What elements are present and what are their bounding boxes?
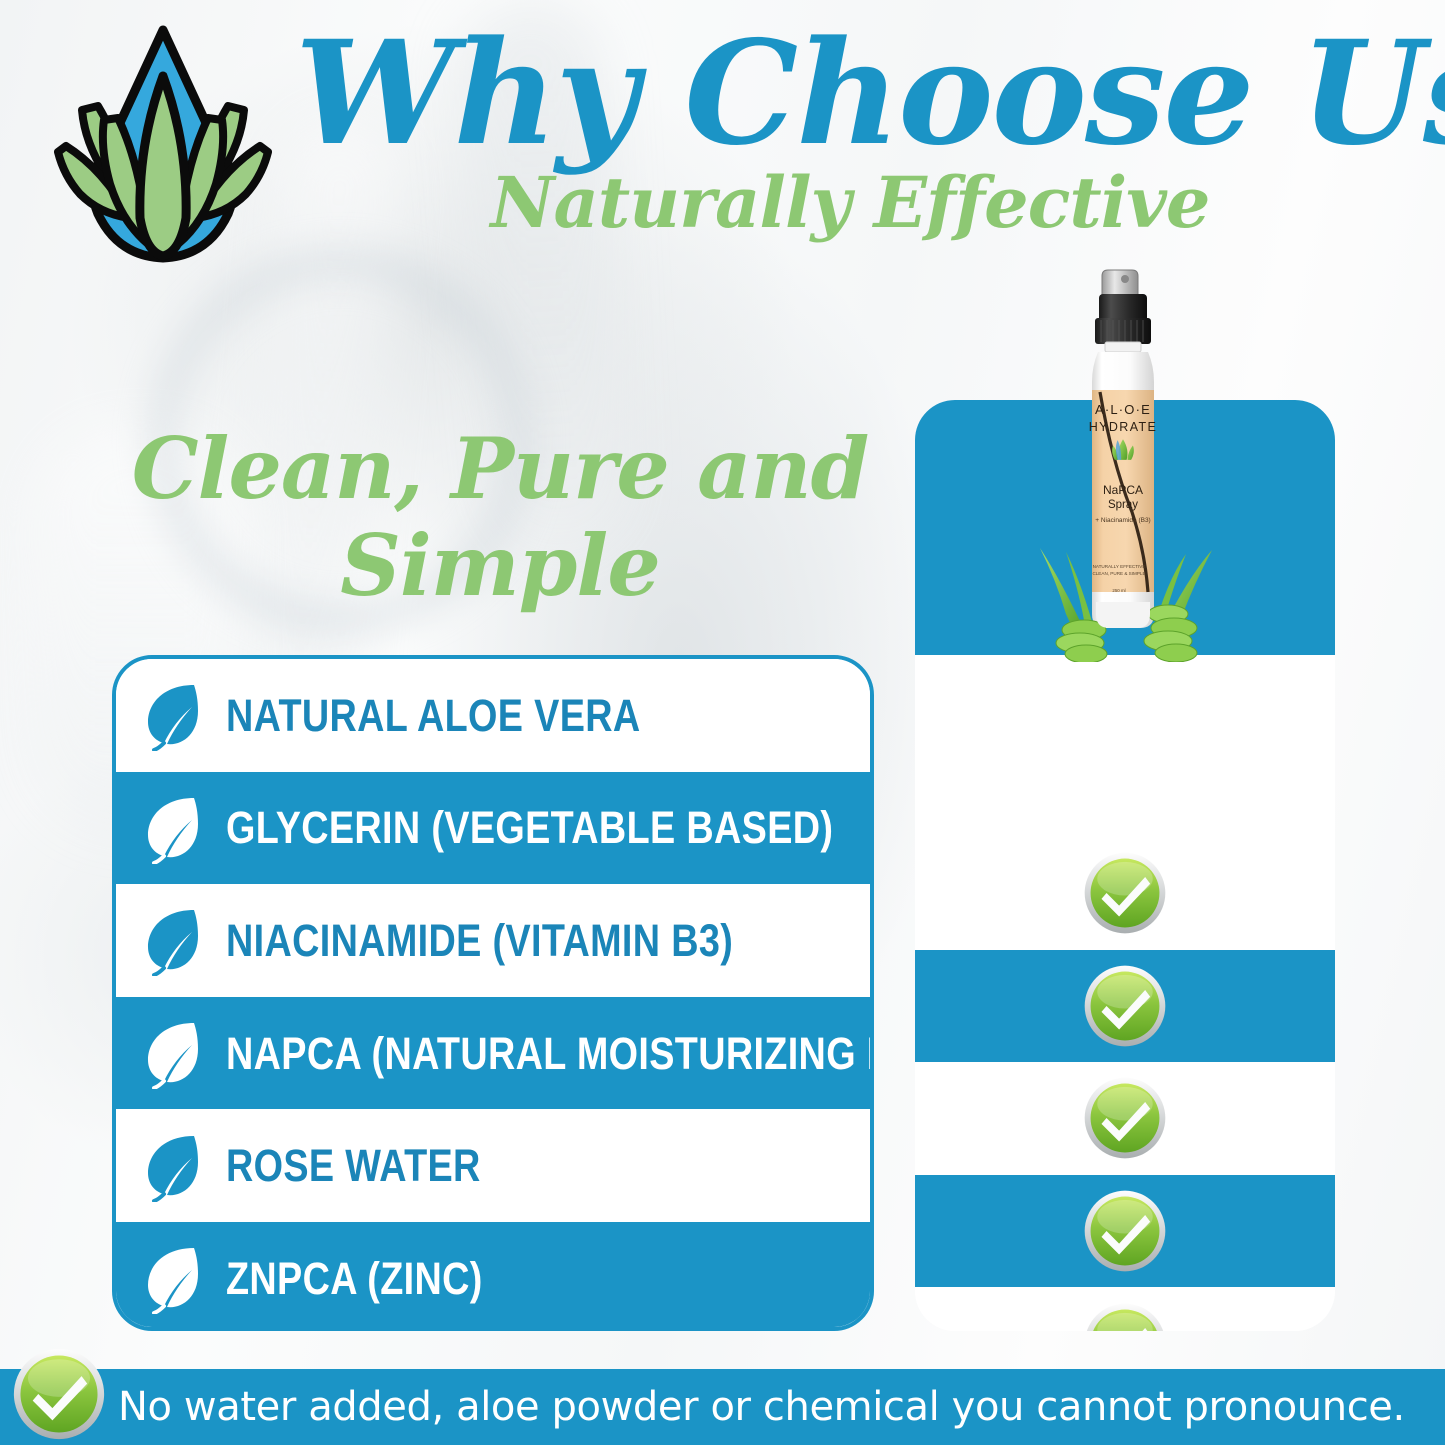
svg-text:A·L·O·E: A·L·O·E xyxy=(1095,402,1151,417)
check-row xyxy=(915,1287,1335,1331)
green-check-badge-icon xyxy=(1083,1076,1167,1160)
infographic-canvas: Why Choose Us? Naturally Effective Clean… xyxy=(0,0,1445,1445)
ingredient-label: ZNPCA (ZINC) xyxy=(226,1256,483,1301)
ingredient-label: NIACINAMIDE (VITAMIN B3) xyxy=(226,918,733,963)
green-check-badge-icon xyxy=(1083,964,1167,1048)
page-subtitle: Naturally Effective xyxy=(295,168,1405,238)
green-check-badge-icon xyxy=(1083,1189,1167,1273)
leaf-icon xyxy=(144,1242,202,1314)
check-row xyxy=(915,837,1335,950)
svg-text:+ Niacinamide (B3): + Niacinamide (B3) xyxy=(1095,517,1150,524)
green-check-badge-icon xyxy=(1083,851,1167,935)
header: Why Choose Us? Naturally Effective xyxy=(0,0,1445,270)
aloe-plant-logo-icon xyxy=(38,18,288,268)
footer-banner: No water added, aloe powder or chemical … xyxy=(0,1369,1445,1445)
ingredient-label: ROSE WATER xyxy=(226,1143,481,1188)
svg-text:250 ml: 250 ml xyxy=(1112,588,1125,593)
ingredient-list-panel: NATURAL ALOE VERA GLYCERIN (VEGETABLE BA… xyxy=(112,655,874,1331)
leaf-icon xyxy=(144,1130,202,1202)
svg-text:Spray: Spray xyxy=(1108,499,1138,511)
ingredient-label: GLYCERIN (VEGETABLE BASED) xyxy=(226,805,833,850)
page-title: Why Choose Us? xyxy=(295,22,1405,165)
leaf-icon xyxy=(144,792,202,864)
green-check-badge-icon xyxy=(12,1347,106,1441)
svg-text:NATURALLY EFFECTIVE: NATURALLY EFFECTIVE xyxy=(1093,564,1146,569)
svg-text:CLEAN, PURE & SIMPLE: CLEAN, PURE & SIMPLE xyxy=(1092,571,1145,576)
leaf-icon xyxy=(144,904,202,976)
ingredient-row: NIACINAMIDE (VITAMIN B3) xyxy=(116,884,870,997)
ingredient-label: NATURAL ALOE VERA xyxy=(226,693,641,738)
green-check-badge-icon xyxy=(1083,1302,1167,1331)
check-row xyxy=(915,950,1335,1063)
ingredient-row: NAPCA (NATURAL MOISTURIZING FACTOR) xyxy=(116,997,870,1110)
check-panel-product-area xyxy=(915,655,1335,837)
leaf-icon xyxy=(144,679,202,751)
ingredient-row: ROSE WATER xyxy=(116,1109,870,1222)
footer-text: No water added, aloe powder or chemical … xyxy=(118,1384,1405,1430)
svg-text:HYDRATE: HYDRATE xyxy=(1089,420,1158,434)
section-title-line-2: Simple xyxy=(120,517,880,614)
ingredient-label: NAPCA (NATURAL MOISTURIZING FACTOR) xyxy=(226,1031,874,1076)
check-row xyxy=(915,1062,1335,1175)
section-title: Clean, Pure and Simple xyxy=(120,420,880,615)
ingredient-row: GLYCERIN (VEGETABLE BASED) xyxy=(116,772,870,885)
ingredient-row: NATURAL ALOE VERA xyxy=(116,659,870,772)
ingredient-row: ZNPCA (ZINC) xyxy=(116,1222,870,1331)
svg-text:NaPCA: NaPCA xyxy=(1103,483,1143,497)
section-title-line-1: Clean, Pure and xyxy=(120,420,880,517)
product-bottle-image: A·L·O·E HYDRATE NaPCA Spray + Niacinamid… xyxy=(1000,262,1250,662)
leaf-icon xyxy=(144,1017,202,1089)
check-row xyxy=(915,1175,1335,1288)
